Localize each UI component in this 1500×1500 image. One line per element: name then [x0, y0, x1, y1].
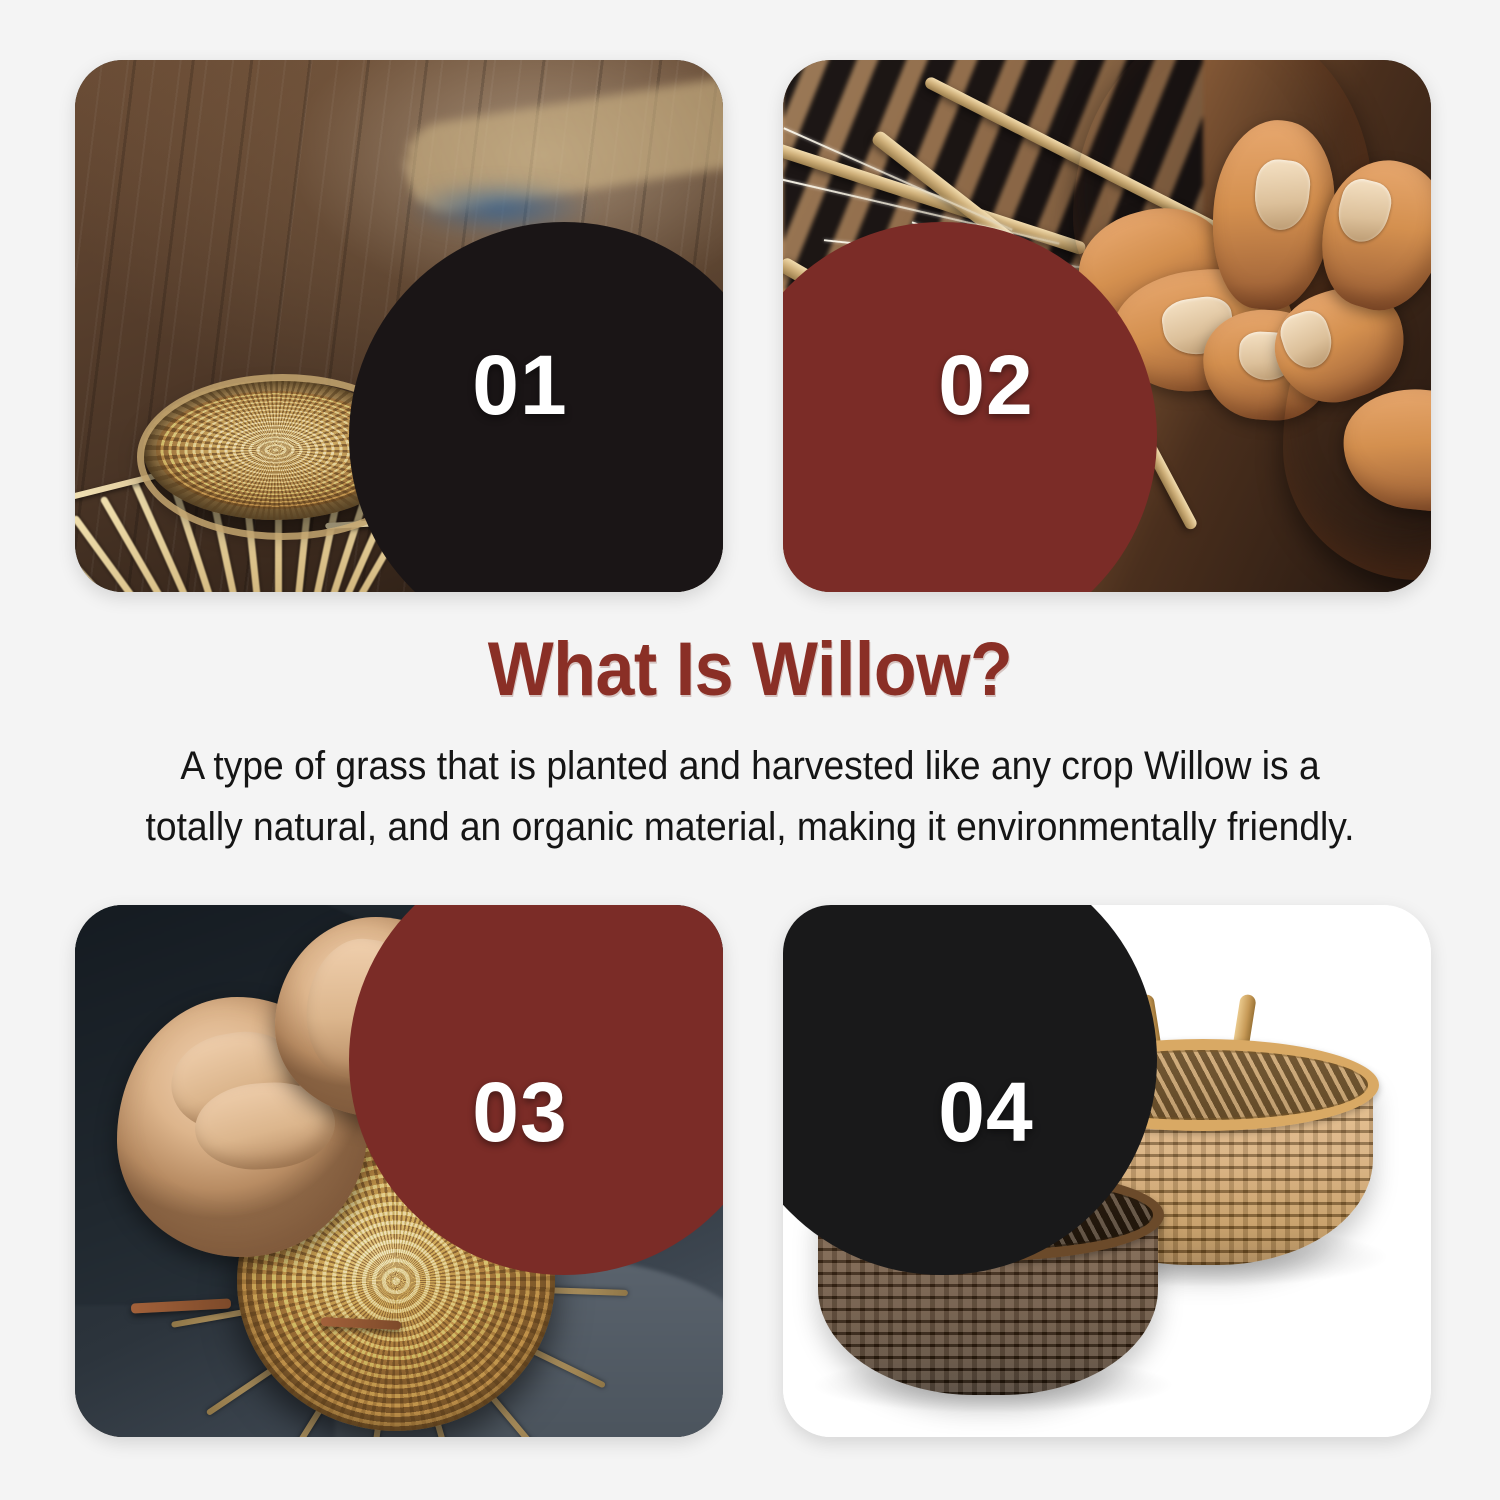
page-description: A type of grass that is planted and harv…	[132, 736, 1369, 858]
card-04[interactable]: 04	[783, 905, 1431, 1437]
badge-04-label: 04	[938, 1070, 1033, 1154]
page-title: What Is Willow?	[60, 630, 1440, 710]
badge-03-label: 03	[472, 1070, 567, 1154]
card-03[interactable]: 03	[75, 905, 723, 1437]
card-01[interactable]: 01	[75, 60, 723, 592]
badge-01-label: 01	[472, 343, 567, 427]
infographic-board: 01	[0, 0, 1500, 1500]
card-02[interactable]: 02	[783, 60, 1431, 592]
text-block: What Is Willow? A type of grass that is …	[0, 630, 1500, 857]
badge-02-label: 02	[938, 343, 1033, 427]
